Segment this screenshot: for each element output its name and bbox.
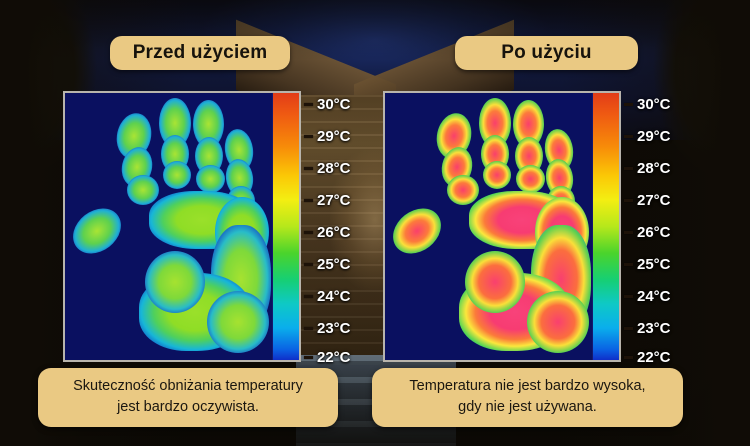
tick-mark — [624, 295, 633, 298]
thermogram-thumb — [65, 199, 130, 263]
thermogram-palm-lower-right — [527, 291, 589, 353]
tick-label: 30°C — [317, 96, 351, 113]
tick-label: 23°C — [317, 320, 351, 337]
scale-row: 24°C — [304, 288, 368, 304]
tick-label: 22°C — [317, 349, 351, 366]
thermogram-finger-2-base — [483, 161, 511, 189]
tick-label: 26°C — [317, 224, 351, 241]
tick-mark — [304, 356, 313, 359]
tick-mark — [304, 103, 313, 106]
thermogram-image-after — [385, 93, 593, 360]
scale-row: 30°C — [624, 96, 688, 112]
caption-line: gdy nie jest używana. — [382, 397, 673, 418]
tick-label: 25°C — [317, 256, 351, 273]
scale-row: 24°C — [624, 288, 688, 304]
tick-label: 22°C — [637, 349, 671, 366]
tick-mark — [624, 167, 633, 170]
tick-label: 28°C — [317, 160, 351, 177]
screenshot-stage: Przed użyciem Po użyciu — [0, 0, 750, 446]
scale-row: 29°C — [624, 128, 688, 144]
thermogram-thumb — [385, 199, 450, 263]
thermogram-finger-1-base — [127, 175, 159, 205]
tick-mark — [624, 199, 633, 202]
thermal-panel-after — [383, 91, 621, 362]
tick-label: 24°C — [317, 288, 351, 305]
caption-before-use: Skuteczność obniżania temperatury jest b… — [38, 368, 338, 427]
scale-row: 28°C — [304, 160, 368, 176]
scale-row: 30°C — [304, 96, 368, 112]
caption-after-use: Temperatura nie jest bardzo wysoka, gdy … — [372, 368, 683, 427]
thermogram-image-before — [65, 93, 273, 360]
scale-row: 26°C — [624, 224, 688, 240]
scale-row: 25°C — [304, 256, 368, 272]
caption-line: Skuteczność obniżania temperatury — [48, 376, 328, 397]
label-before-use: Przed użyciem — [110, 36, 290, 70]
tick-label: 29°C — [637, 128, 671, 145]
scale-row: 28°C — [624, 160, 688, 176]
thermogram-finger-3-base — [516, 165, 545, 193]
tick-label: 27°C — [317, 192, 351, 209]
tick-label: 29°C — [317, 128, 351, 145]
tick-mark — [304, 135, 313, 138]
tick-mark — [624, 135, 633, 138]
tick-mark — [304, 327, 313, 330]
tick-mark — [624, 263, 633, 266]
tick-mark — [304, 199, 313, 202]
thermogram-palm-thenar — [465, 251, 525, 313]
temperature-scale-after: 30°C 29°C 28°C 27°C 26°C 25°C 24°C 23°C … — [624, 91, 688, 362]
tick-mark — [304, 263, 313, 266]
thermogram-finger-3-base — [196, 165, 225, 193]
tick-mark — [624, 231, 633, 234]
tick-label: 24°C — [637, 288, 671, 305]
caption-line: Temperatura nie jest bardzo wysoka, — [382, 376, 673, 397]
thermogram-finger-1-base — [447, 175, 479, 205]
tick-mark — [304, 167, 313, 170]
tick-mark — [304, 231, 313, 234]
tick-mark — [624, 327, 633, 330]
scale-row: 27°C — [304, 192, 368, 208]
tick-mark — [304, 295, 313, 298]
scale-row: 23°C — [624, 320, 688, 336]
tick-label: 30°C — [637, 96, 671, 113]
scale-row: 26°C — [304, 224, 368, 240]
colorbar-before — [272, 93, 299, 360]
tick-mark — [624, 103, 633, 106]
scale-row: 23°C — [304, 320, 368, 336]
scale-row: 25°C — [624, 256, 688, 272]
tick-label: 23°C — [637, 320, 671, 337]
caption-line: jest bardzo oczywista. — [48, 397, 328, 418]
tick-label: 28°C — [637, 160, 671, 177]
label-after-use: Po użyciu — [455, 36, 638, 70]
tick-label: 25°C — [637, 256, 671, 273]
tick-mark — [624, 356, 633, 359]
temperature-scale-before: 30°C 29°C 28°C 27°C 26°C 25°C 24°C 23°C … — [304, 91, 368, 362]
scale-row: 22°C — [304, 349, 368, 365]
scale-row: 22°C — [624, 349, 688, 365]
scale-row: 29°C — [304, 128, 368, 144]
thermogram-finger-2-base — [163, 161, 191, 189]
scale-row: 27°C — [624, 192, 688, 208]
thermal-panel-before — [63, 91, 301, 362]
thermogram-palm-lower-right — [207, 291, 269, 353]
thermogram-palm-thenar — [145, 251, 205, 313]
tick-label: 27°C — [637, 192, 671, 209]
colorbar-after — [592, 93, 619, 360]
tick-label: 26°C — [637, 224, 671, 241]
